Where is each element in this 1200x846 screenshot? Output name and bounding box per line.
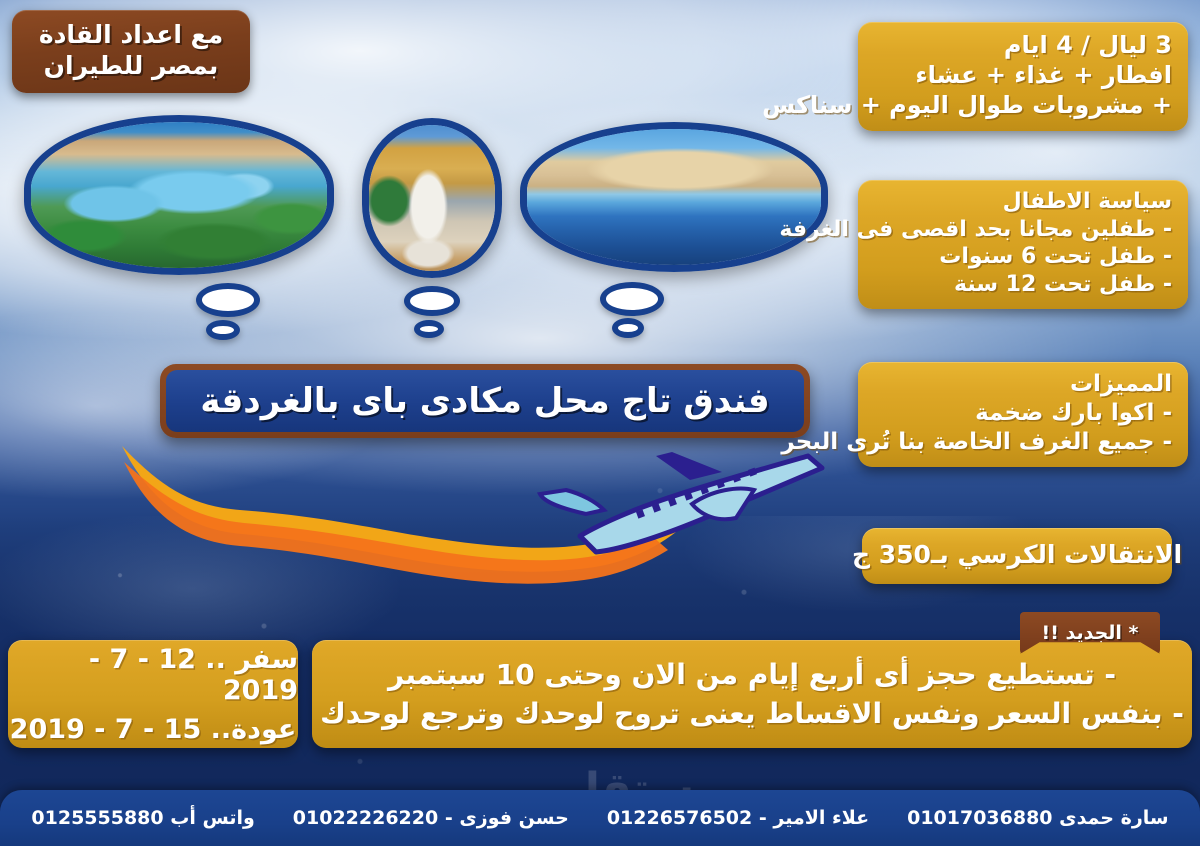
thought-cloud-tail-large-3 <box>600 282 664 316</box>
contact-phone: 01022226220 <box>293 807 438 829</box>
features-line-2: - جميع الغرف الخاصة بنا تُرى البحر <box>874 428 1172 457</box>
transfer-text: الانتقالات الكرسي بـ350 ج <box>852 539 1182 571</box>
thought-cloud-fountain <box>362 118 502 278</box>
contact-alaa-alamir[interactable]: علاء الامير - 01226576502 <box>607 807 869 829</box>
contact-sara-hamdy[interactable]: سارة حمدى 01017036880 <box>907 807 1168 829</box>
contact-label: حسن فوزى - <box>445 807 569 829</box>
booking-offer-box: - تستطيع حجز أى أربع إيام من الان وحتى 1… <box>312 640 1192 748</box>
poster-canvas: مع اعداد القادة بمصر للطيران فندق تاج مح… <box>0 0 1200 846</box>
children-heading: سياسة الاطفال <box>874 188 1172 216</box>
thought-cloud-tail-large-2 <box>404 286 460 316</box>
thought-cloud-hotel-reflection <box>520 122 828 272</box>
hotel-title-text: فندق تاج محل مكادى باى بالغردقة <box>166 370 804 432</box>
airplane-icon <box>540 452 822 552</box>
cloud-frame <box>24 115 334 275</box>
resort-pool-photo <box>31 122 327 268</box>
package-panel: 3 ليال / 4 ايام افطار + غذاء + عشاء + مش… <box>858 22 1188 131</box>
return-date: عودة.. 15 - 7 - 2019 <box>10 714 297 745</box>
children-line-3: - طفل تحت 12 سنة <box>874 271 1172 299</box>
thought-cloud-tail-large-1 <box>196 283 260 317</box>
thought-cloud-tail-small-2 <box>414 320 444 338</box>
brand-badge-line-1: مع اعداد القادة <box>22 20 240 51</box>
brand-badge-line-2: بمصر للطيران <box>22 51 240 82</box>
features-line-1: - اكوا بارك ضخمة <box>874 399 1172 428</box>
contact-whatsapp[interactable]: واتس أب 0125555880 <box>31 807 254 829</box>
cloud-frame <box>362 118 502 278</box>
travel-dates-box: سفر .. 12 - 7 - 2019 عودة.. 15 - 7 - 201… <box>8 640 298 748</box>
departure-date: سفر .. 12 - 7 - 2019 <box>8 644 298 706</box>
features-heading: المميزات <box>874 370 1172 399</box>
airplane-graphic <box>120 440 840 600</box>
contact-label: علاء الامير - <box>759 807 869 829</box>
contact-label: سارة حمدى <box>1059 807 1168 829</box>
airplane-rear-wing <box>540 490 604 514</box>
swoosh-orange-band <box>124 462 668 584</box>
contact-label: واتس أب <box>170 807 255 829</box>
airplane-tail-fin <box>656 452 722 480</box>
offer-line-2: - بنفس السعر ونفس الاقساط يعنى تروح لوحد… <box>320 697 1184 730</box>
cloud-frame <box>520 122 828 272</box>
hotel-title-banner: فندق تاج محل مكادى باى بالغردقة <box>160 364 810 438</box>
offer-line-1: - تستطيع حجز أى أربع إيام من الان وحتى 1… <box>388 658 1116 691</box>
children-line-2: - طفل تحت 6 سنوات <box>874 243 1172 271</box>
contact-phone: 01017036880 <box>907 807 1052 829</box>
children-policy-panel: سياسة الاطفال - طفلين مجانا بحد اقصى فى … <box>858 180 1188 309</box>
package-line-2: افطار + غذاء + عشاء <box>874 60 1172 90</box>
contact-phone: 0125555880 <box>31 807 163 829</box>
children-line-1: - طفلين مجانا بحد اقصى فى الغرفة <box>874 216 1172 244</box>
contact-phone: 01226576502 <box>607 807 752 829</box>
package-line-3: + مشروبات طوال اليوم + سناكس <box>874 90 1172 120</box>
package-line-1: 3 ليال / 4 ايام <box>874 30 1172 60</box>
contact-hassan-fawzy[interactable]: حسن فوزى - 01022226220 <box>293 807 569 829</box>
brand-badge: مع اعداد القادة بمصر للطيران <box>12 10 250 93</box>
thought-cloud-tail-small-3 <box>612 318 644 338</box>
thought-cloud-tail-small-1 <box>206 320 240 340</box>
hotel-fountain-photo <box>369 125 495 271</box>
hotel-reflection-photo <box>527 129 821 265</box>
transfer-panel: الانتقالات الكرسي بـ350 ج <box>862 528 1172 584</box>
contact-bar: سارة حمدى 01017036880 علاء الامير - 0122… <box>0 790 1200 846</box>
thought-cloud-resort-pool <box>24 115 334 275</box>
features-panel: المميزات - اكوا بارك ضخمة - جميع الغرف ا… <box>858 362 1188 467</box>
